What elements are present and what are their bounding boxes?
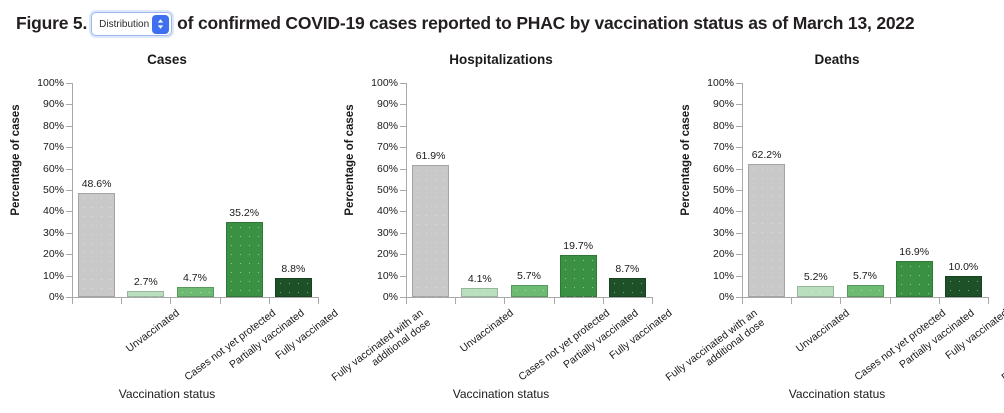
bar-value-label: 5.7% [517, 270, 541, 282]
y-axis-tick [66, 126, 72, 127]
bar[interactable] [78, 193, 115, 297]
y-axis-tick [400, 83, 406, 84]
y-axis-tick-label: 60% [377, 163, 398, 175]
y-axis-tick [736, 83, 742, 84]
y-axis-tick [736, 126, 742, 127]
y-axis-tick [66, 276, 72, 277]
bar-value-label: 19.7% [563, 240, 593, 252]
x-axis-tick [170, 298, 171, 304]
x-axis-category-label: Fully vaccinated [607, 307, 674, 362]
y-axis-tick-label: 40% [713, 205, 734, 217]
x-axis-label: Vaccination status [670, 387, 1004, 401]
y-axis-tick [400, 104, 406, 105]
bar[interactable] [511, 285, 548, 297]
y-axis-tick-label: 40% [43, 205, 64, 217]
y-axis-tick [400, 190, 406, 191]
y-axis-tick [66, 233, 72, 234]
y-axis-label: Percentage of cases [10, 80, 22, 240]
bar-value-label: 4.7% [183, 272, 207, 284]
y-axis-line [742, 83, 743, 298]
bar-value-label: 2.7% [134, 276, 158, 288]
distribution-select-value: Distribution [99, 19, 149, 30]
y-axis-tick [736, 190, 742, 191]
y-axis-tick-label: 10% [713, 270, 734, 282]
y-axis-tick-label: 50% [713, 184, 734, 196]
bar-value-label: 5.7% [853, 270, 877, 282]
y-axis-label: Percentage of cases [344, 80, 356, 240]
chart-panel-cases: CasesPercentage of cases0%10%20%30%40%50… [0, 46, 334, 413]
y-axis-tick-label: 100% [371, 77, 398, 89]
y-axis-tick [736, 254, 742, 255]
y-axis-tick-label: 60% [713, 163, 734, 175]
y-axis-tick-label: 70% [377, 141, 398, 153]
figure-caption: Figure 5. Distribution of confirmed COVI… [0, 0, 1004, 46]
y-axis-tick [736, 169, 742, 170]
x-axis-tick [939, 298, 940, 304]
stepper-up-down-icon[interactable] [152, 15, 169, 34]
y-axis-tick-label: 20% [713, 248, 734, 260]
x-axis-tick [121, 298, 122, 304]
x-axis-tick [220, 298, 221, 304]
x-axis-category-label: Unvaccinated [123, 307, 181, 355]
plot-area: 0%10%20%30%40%50%60%70%80%90%100%62.2%Un… [742, 83, 988, 297]
y-axis-tick [736, 276, 742, 277]
y-axis-tick [736, 147, 742, 148]
y-axis-tick [400, 276, 406, 277]
y-axis-tick [66, 190, 72, 191]
distribution-select[interactable]: Distribution [91, 12, 172, 36]
y-axis-tick-label: 60% [43, 163, 64, 175]
y-axis-tick-label: 80% [43, 120, 64, 132]
bar-value-label: 8.7% [615, 263, 639, 275]
y-axis-tick-label: 30% [377, 227, 398, 239]
x-axis-tick [504, 298, 505, 304]
y-axis-tick [400, 233, 406, 234]
x-axis-category-label: Unvaccinated [793, 307, 851, 355]
bar[interactable] [177, 287, 214, 297]
bar[interactable] [945, 276, 982, 297]
x-axis-line [742, 297, 989, 298]
y-axis-tick-label: 50% [377, 184, 398, 196]
bar[interactable] [609, 278, 646, 297]
y-axis-tick-label: 0% [49, 291, 64, 303]
x-axis-label: Vaccination status [334, 387, 668, 401]
bar-value-label: 16.9% [899, 246, 929, 258]
x-axis-label: Vaccination status [0, 387, 334, 401]
y-axis-tick-label: 40% [377, 205, 398, 217]
x-axis-line [406, 297, 653, 298]
y-axis-tick-label: 70% [713, 141, 734, 153]
y-axis-tick-label: 90% [43, 98, 64, 110]
chart-title: Cases [0, 52, 334, 67]
bar[interactable] [127, 291, 164, 297]
bar-value-label: 4.1% [468, 273, 492, 285]
chart-panel-hospitalizations: HospitalizationsPercentage of cases0%10%… [334, 46, 668, 413]
x-axis-tick [840, 298, 841, 304]
x-axis-tick [318, 298, 319, 304]
y-axis-tick-label: 90% [377, 98, 398, 110]
y-axis-tick [66, 211, 72, 212]
x-axis-category-label: Fully vaccinated [273, 307, 340, 362]
y-axis-tick-label: 70% [43, 141, 64, 153]
y-axis-tick-label: 100% [707, 77, 734, 89]
y-axis-tick [66, 83, 72, 84]
y-axis-tick [66, 169, 72, 170]
y-axis-tick [66, 147, 72, 148]
y-axis-tick-label: 10% [377, 270, 398, 282]
y-axis-tick-label: 0% [719, 291, 734, 303]
y-axis-tick [400, 126, 406, 127]
x-axis-category-label: Unvaccinated [457, 307, 515, 355]
bar[interactable] [226, 222, 263, 297]
x-axis-tick [406, 298, 407, 304]
y-axis-tick [400, 211, 406, 212]
y-axis-line [406, 83, 407, 298]
y-axis-tick [736, 104, 742, 105]
x-axis-tick [791, 298, 792, 304]
plot-area: 0%10%20%30%40%50%60%70%80%90%100%48.6%Un… [72, 83, 318, 297]
x-axis-tick [554, 298, 555, 304]
bar-value-label: 61.9% [416, 150, 446, 162]
y-axis-tick-label: 100% [37, 77, 64, 89]
y-axis-tick-label: 20% [377, 248, 398, 260]
x-axis-tick [269, 298, 270, 304]
figure-number: Figure 5. [16, 13, 87, 34]
y-axis-tick-label: 10% [43, 270, 64, 282]
y-axis-tick-label: 90% [713, 98, 734, 110]
y-axis-tick-label: 20% [43, 248, 64, 260]
x-axis-tick [652, 298, 653, 304]
y-axis-tick [66, 254, 72, 255]
x-axis-tick [455, 298, 456, 304]
y-axis-tick [736, 233, 742, 234]
y-axis-tick [736, 211, 742, 212]
y-axis-tick-label: 30% [713, 227, 734, 239]
bar-value-label: 62.2% [752, 149, 782, 161]
bar-value-label: 10.0% [949, 261, 979, 273]
x-axis-tick [72, 298, 73, 304]
bar-value-label: 5.2% [804, 271, 828, 283]
plot-area: 0%10%20%30%40%50%60%70%80%90%100%61.9%Un… [406, 83, 652, 297]
y-axis-tick-label: 30% [43, 227, 64, 239]
y-axis-tick [66, 104, 72, 105]
chart-panel-deaths: DeathsPercentage of cases0%10%20%30%40%5… [670, 46, 1004, 413]
y-axis-label: Percentage of cases [680, 80, 692, 240]
bar-value-label: 35.2% [229, 207, 259, 219]
chart-title: Hospitalizations [334, 52, 668, 67]
x-axis-tick [988, 298, 989, 304]
chart-title: Deaths [670, 52, 1004, 67]
figure-caption-text: of confirmed COVID-19 cases reported to … [177, 13, 914, 34]
y-axis-tick-label: 80% [713, 120, 734, 132]
y-axis-line [72, 83, 73, 298]
bar[interactable] [896, 261, 933, 297]
x-axis-tick [742, 298, 743, 304]
x-axis-tick [603, 298, 604, 304]
bar[interactable] [560, 255, 597, 297]
bar[interactable] [847, 285, 884, 297]
bar-value-label: 48.6% [82, 178, 112, 190]
y-axis-tick [400, 147, 406, 148]
bar[interactable] [275, 278, 312, 297]
bar[interactable] [748, 164, 785, 297]
x-axis-tick [890, 298, 891, 304]
y-axis-tick-label: 80% [377, 120, 398, 132]
y-axis-tick [400, 169, 406, 170]
y-axis-tick [400, 254, 406, 255]
x-axis-line [72, 297, 319, 298]
bar[interactable] [461, 288, 498, 297]
bar[interactable] [797, 286, 834, 297]
y-axis-tick-label: 0% [383, 291, 398, 303]
y-axis-tick-label: 50% [43, 184, 64, 196]
bar[interactable] [412, 165, 449, 297]
bar-value-label: 8.8% [281, 263, 305, 275]
